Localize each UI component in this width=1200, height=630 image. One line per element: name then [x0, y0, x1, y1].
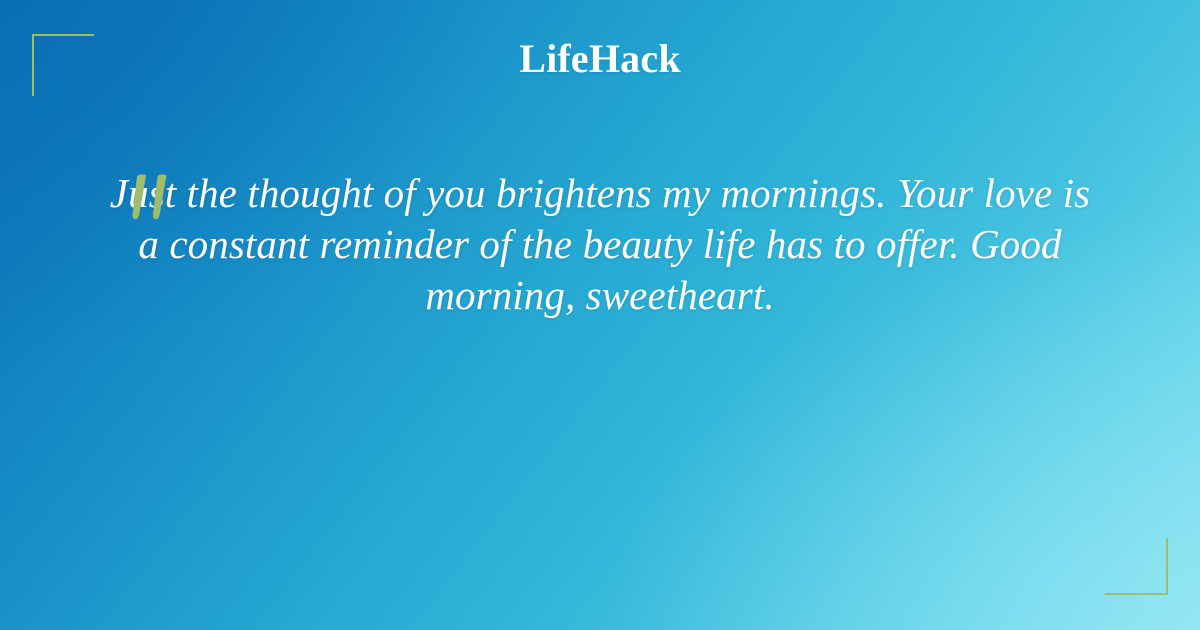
brand-wordmark: LifeHack — [519, 36, 681, 82]
quote-line: morning, sweetheart. — [100, 270, 1100, 321]
quote-line: Just the thought of you brightens my mor… — [100, 168, 1100, 219]
quote-card: LifeHack Just the thought of you brighte… — [0, 0, 1200, 630]
brand-header: LifeHack — [0, 36, 1200, 82]
double-quote-icon — [128, 174, 180, 220]
quote-text: Just the thought of you brightens my mor… — [0, 168, 1200, 321]
corner-bracket-horizontal-bar — [1105, 593, 1168, 595]
corner-bracket-bottom-right-icon — [1105, 538, 1168, 595]
corner-bracket-vertical-bar — [1166, 538, 1168, 595]
quote-line: a constant reminder of the beauty life h… — [100, 219, 1100, 270]
quote-block: Just the thought of you brightens my mor… — [0, 168, 1200, 321]
